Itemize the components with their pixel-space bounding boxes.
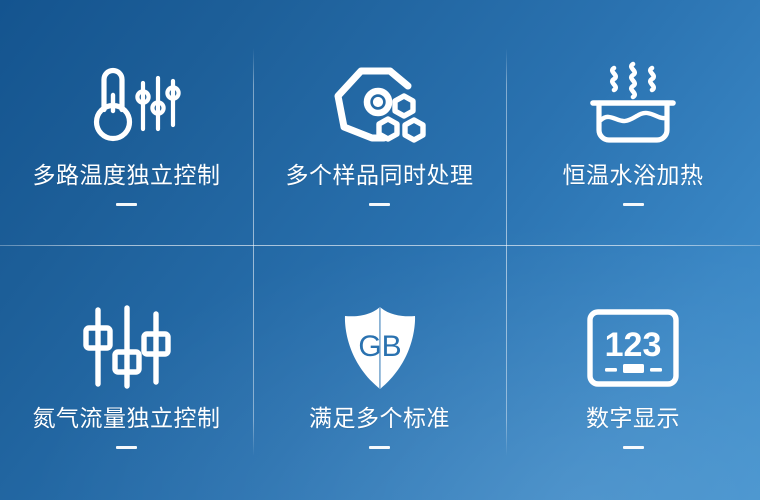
display-value: 123 — [605, 326, 662, 364]
feature-cell-nitrogen-flow[interactable]: 氮气流量独立控制 — [0, 245, 253, 500]
feature-dash — [369, 203, 390, 206]
feature-label: 氮气流量独立控制 — [33, 407, 221, 430]
shield-gb-icon: GB — [338, 305, 422, 391]
feature-dash — [116, 203, 137, 206]
feature-label: 数字显示 — [586, 407, 680, 430]
feature-cell-temperature-control[interactable]: 多路温度独立控制 — [0, 0, 253, 245]
feature-dash — [623, 446, 644, 449]
feature-label: 多个样品同时处理 — [286, 164, 474, 187]
feature-grid-panel: 多路温度独立控制 — [0, 0, 760, 500]
feature-grid: 多路温度独立控制 — [0, 0, 760, 500]
feature-label: 多路温度独立控制 — [33, 164, 221, 187]
feature-cell-water-bath[interactable]: 恒温水浴加热 — [506, 0, 760, 245]
feature-cell-digital-display[interactable]: 123 数字显示 — [506, 245, 760, 500]
feature-dash — [623, 203, 644, 206]
feature-label: 恒温水浴加热 — [563, 164, 704, 187]
feature-cell-multi-sample[interactable]: 多个样品同时处理 — [253, 0, 506, 245]
feature-cell-standards[interactable]: GB 满足多个标准 — [253, 245, 506, 500]
digital-display-123-icon: 123 — [586, 305, 680, 391]
vertical-sliders-icon — [83, 305, 171, 391]
feature-dash — [116, 446, 137, 449]
hexagon-samples-icon — [328, 62, 432, 148]
thermometer-sliders-icon — [75, 62, 179, 148]
feature-dash — [369, 446, 390, 449]
water-bath-steam-icon — [587, 62, 679, 148]
shield-letters: GB — [358, 330, 401, 363]
feature-label: 满足多个标准 — [309, 407, 450, 430]
